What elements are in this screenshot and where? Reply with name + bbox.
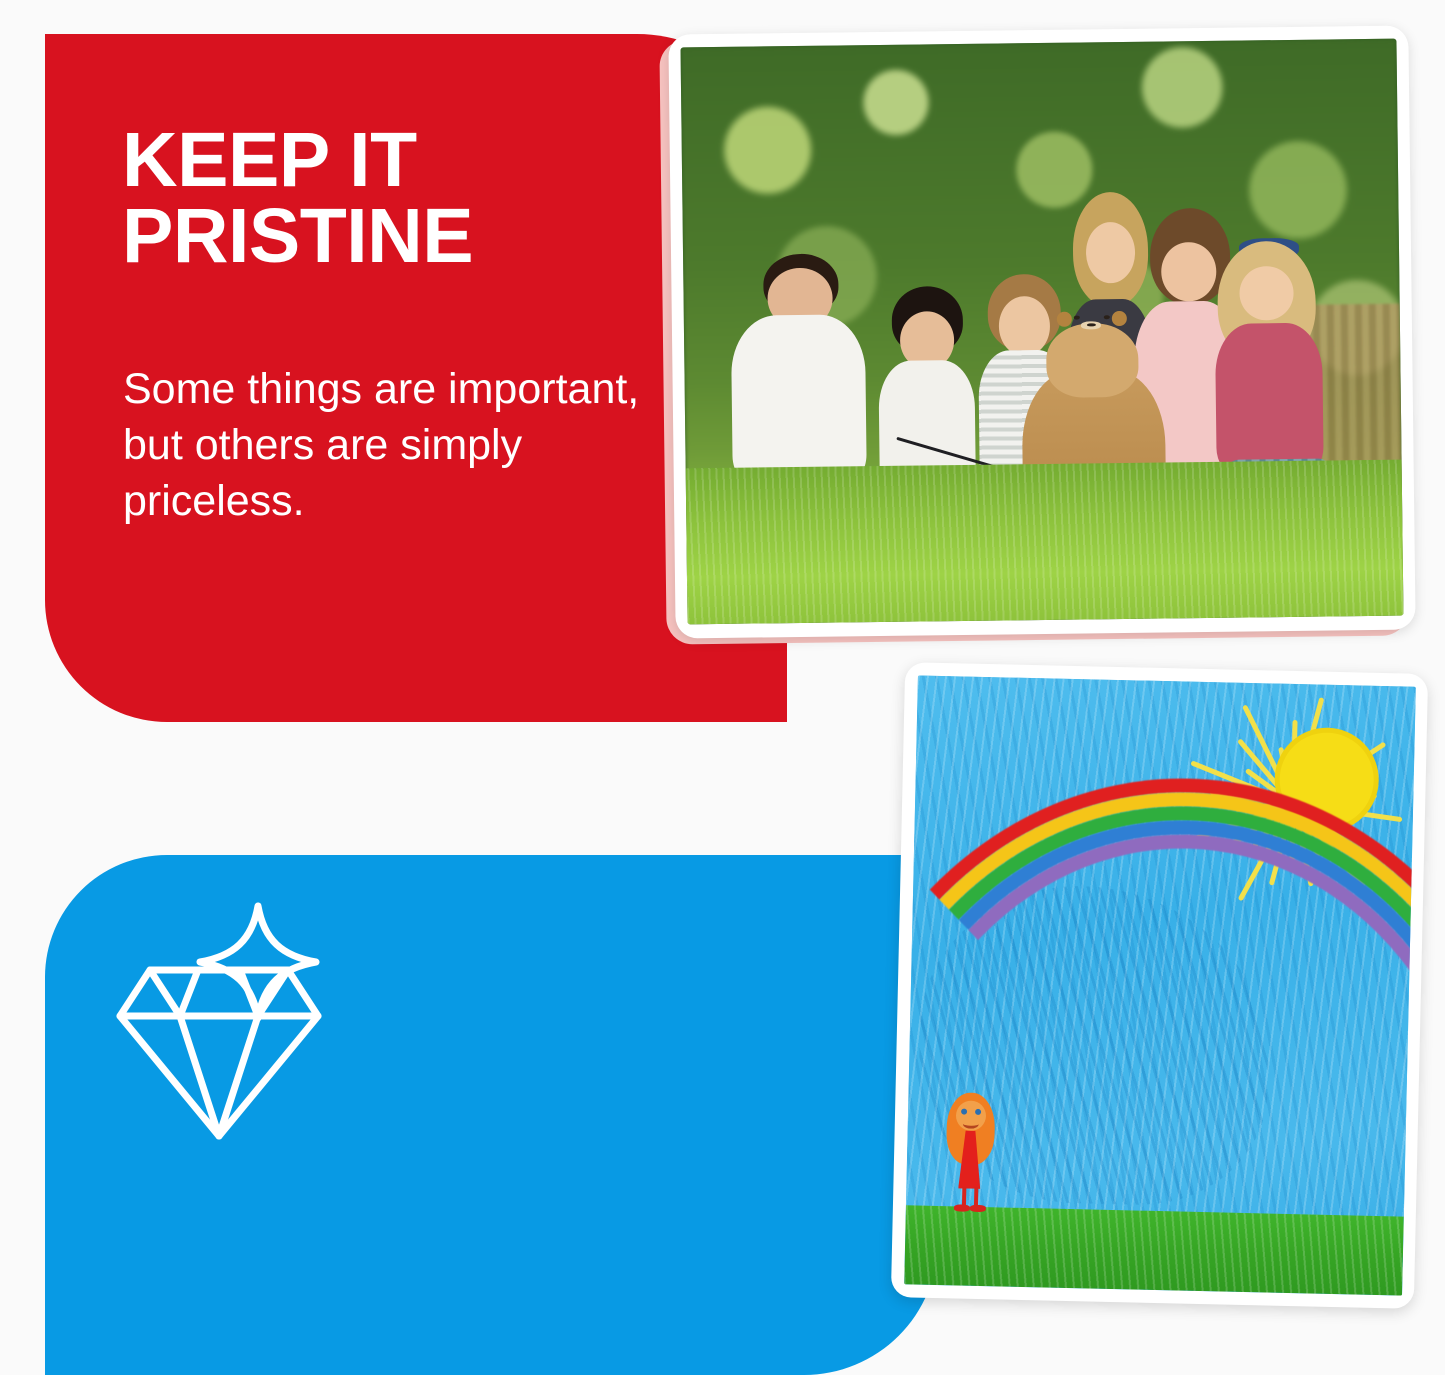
child-artwork-card xyxy=(891,662,1428,1309)
photo-lawn xyxy=(686,460,1404,625)
red-headline: KEEP IT PRISTINE xyxy=(122,122,682,274)
red-subtext: Some things are important, but others ar… xyxy=(123,362,643,530)
family-photo-image xyxy=(680,39,1403,625)
artwork-girl-figure xyxy=(941,1092,1000,1213)
diamond-sparkle-icon xyxy=(110,898,328,1142)
family-photo-card xyxy=(668,26,1415,639)
infographic-canvas: KEEP IT PRISTINE Some things are importa… xyxy=(0,0,1445,1375)
child-artwork-image xyxy=(904,675,1416,1295)
artwork-grass xyxy=(904,1205,1404,1295)
